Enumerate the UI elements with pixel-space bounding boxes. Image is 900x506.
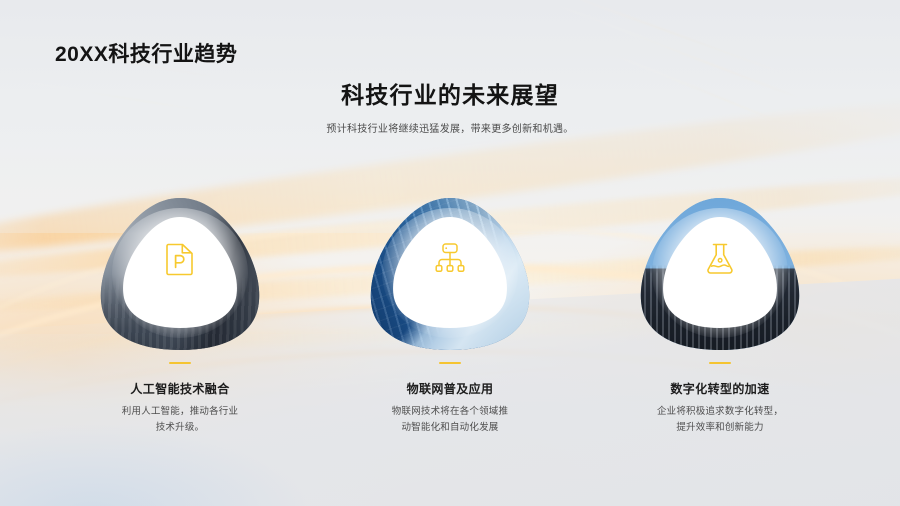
card-icon-slot bbox=[638, 242, 802, 276]
feature-card[interactable]: 人工智能技术融合 利用人工智能，推动各行业 技术升级。 bbox=[87, 196, 273, 435]
card-divider bbox=[169, 362, 191, 364]
card-description-line: 利用人工智能，推动各行业 bbox=[122, 406, 238, 417]
card-description-line: 提升效率和创新能力 bbox=[676, 422, 763, 433]
card-visual bbox=[98, 196, 262, 352]
card-description: 企业将积极追求数字化转型， 提升效率和创新能力 bbox=[645, 404, 795, 435]
card-title: 人工智能技术融合 bbox=[130, 380, 229, 397]
card-divider bbox=[709, 362, 731, 364]
flask-icon bbox=[704, 242, 736, 276]
network-hierarchy-icon bbox=[432, 242, 468, 274]
card-icon-slot bbox=[98, 242, 262, 276]
card-visual bbox=[368, 196, 532, 352]
card-title: 数字化转型的加速 bbox=[670, 380, 769, 397]
card-divider bbox=[439, 362, 461, 364]
card-description-line: 动智能化和自动化发展 bbox=[401, 422, 498, 433]
card-title: 物联网普及应用 bbox=[407, 380, 494, 397]
document-p-icon bbox=[165, 242, 195, 276]
card-description: 利用人工智能，推动各行业 技术升级。 bbox=[105, 404, 255, 435]
card-description: 物联网技术将在各个领域推 动智能化和自动化发展 bbox=[375, 404, 525, 435]
background-overlay-wash bbox=[0, 425, 306, 506]
presentation-slide: 20XX科技行业趋势 科技行业的未来展望 预计科技行业将继续迅猛发展，带来更多创… bbox=[0, 0, 900, 506]
feature-card[interactable]: 数字化转型的加速 企业将积极追求数字化转型， 提升效率和创新能力 bbox=[627, 196, 813, 435]
card-visual bbox=[638, 196, 802, 352]
feature-card-list: 人工智能技术融合 利用人工智能，推动各行业 技术升级。 bbox=[0, 196, 900, 435]
page-title: 科技行业的未来展望 bbox=[0, 76, 900, 110]
page-subtitle: 预计科技行业将继续迅猛发展，带来更多创新和机遇。 bbox=[0, 120, 900, 135]
card-icon-slot bbox=[368, 242, 532, 274]
feature-card[interactable]: 物联网普及应用 物联网技术将在各个领域推 动智能化和自动化发展 bbox=[357, 196, 543, 435]
slide-kicker: 20XX科技行业趋势 bbox=[55, 38, 237, 68]
card-description-line: 技术升级。 bbox=[156, 422, 205, 433]
card-description-line: 物联网技术将在各个领域推 bbox=[392, 406, 508, 417]
card-description-line: 企业将积极追求数字化转型， bbox=[657, 406, 783, 417]
